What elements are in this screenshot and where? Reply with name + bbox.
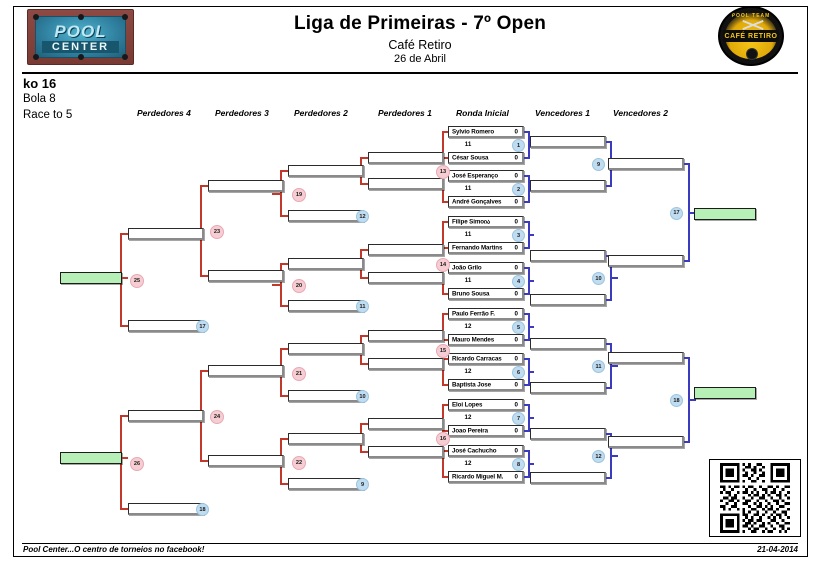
connector-line [606,387,610,389]
race-to-label: 11 [448,141,488,148]
connector-line [444,313,448,315]
perdedores-2-slot[interactable] [288,165,364,177]
ronda-inicial-slot-top[interactable]: José Esperanço0 [448,170,524,182]
connector-line [282,483,288,485]
connector-line [362,249,368,251]
race-label: Race to 5 [23,109,72,121]
player-score: 0 [515,381,518,388]
column-header-perdedores-3: Perdedores 3 [215,108,269,118]
match-number-badge[interactable]: 23 [210,225,224,239]
vencedores-2-slot[interactable] [608,436,684,448]
perdedores-1-slot[interactable] [368,330,444,342]
ronda-inicial-slot-top[interactable]: Sylvio Romero0 [448,126,524,138]
vencedores-2-slot[interactable] [608,158,684,170]
perdedores-2-slot[interactable] [288,258,364,270]
connector-line [528,463,534,465]
match-number-badge[interactable]: 17 [196,320,209,333]
connector-line [444,450,448,452]
ronda-inicial-slot-bottom[interactable]: Baptista Jose0 [448,379,524,391]
perdedores-2-slot[interactable] [288,478,364,490]
ronda-inicial-slot-bottom[interactable]: Joao Pereira0 [448,425,524,437]
connector-line [362,183,368,185]
player-name: Paulo Ferrão F. [452,310,495,317]
vencedores-1-slot[interactable] [530,338,606,350]
player-name: Ricardo Miguel M. [452,473,503,480]
match-number-badge[interactable]: 18 [196,503,209,516]
match-number-badge[interactable]: 26 [130,457,144,471]
cafe-retiro-logo: POOL TEAM CAFÉ RETIRO [718,6,784,66]
vencedores-2-slot[interactable] [608,255,684,267]
perdedores-3-slot[interactable] [208,455,284,467]
player-score: 0 [515,128,518,135]
match-number-badge[interactable]: 12 [592,450,605,463]
perdedores-1-slot[interactable] [368,152,444,164]
vencedores-2-slot[interactable] [608,352,684,364]
match-number-badge[interactable]: 5 [512,321,525,334]
connector-line [524,157,528,159]
connector-line [528,280,534,282]
connector-line [362,335,368,337]
column-header-vencedores-1: Vencedores 1 [535,108,590,118]
connector-line [610,455,618,457]
connector-line [606,299,610,301]
connector-line [524,476,528,478]
connector-line [362,157,368,159]
player-score: 0 [515,310,518,317]
connector-line [280,170,282,217]
ronda-inicial-slot-top[interactable]: Filipe Simoია0 [448,216,524,228]
match-number-badge[interactable]: 8 [512,458,525,471]
connector-line [272,193,280,195]
ronda-inicial-slot-top[interactable]: José Cachucho0 [448,445,524,457]
footer-note: Pool Center...O centro de torneios no fa… [23,545,204,554]
ronda-inicial-slot-top[interactable]: Paulo Ferrão F.0 [448,308,524,320]
perdedores-1-slot[interactable] [368,418,444,430]
player-name: Baptista Jose [452,381,491,388]
perdedores-4-slot[interactable] [128,503,204,515]
match-number-badge[interactable]: 20 [292,279,306,293]
pocket-icon [122,14,128,20]
connector-line [202,185,208,187]
venue-subtitle: Café Retiro [230,38,610,52]
pool-center-logo-line2: CENTER [42,41,119,53]
vencedores-1-slot[interactable] [530,472,606,484]
match-number-badge[interactable]: 14 [436,258,450,272]
vencedores-1-slot[interactable] [530,180,606,192]
player-name: César Sousa [452,154,488,161]
connector-line [122,415,128,417]
connector-line [122,457,128,459]
cafe-retiro-logo-band: CAFÉ RETIRO [723,30,779,42]
race-to-label: 12 [448,323,488,330]
match-number-badge[interactable]: 1 [512,139,525,152]
perdedores-2-slot[interactable] [288,343,364,355]
player-name: Eloi Lopes [452,401,482,408]
match-number-badge[interactable]: 10 [356,390,369,403]
page-title: Liga de Primeiras - 7º Open [230,13,610,35]
player-score: 0 [515,198,518,205]
connector-line [362,363,368,365]
match-number-badge[interactable]: 15 [436,344,450,358]
match-number-badge[interactable]: 13 [436,165,450,179]
player-name: Sylvio Romero [452,128,494,135]
final-winner-slot[interactable] [694,208,756,220]
column-header-vencedores-2: Vencedores 2 [613,108,668,118]
match-number-badge[interactable]: 22 [292,456,306,470]
player-score: 0 [515,473,518,480]
player-name: Filipe Simoია [452,218,490,225]
perdedores-2-slot[interactable] [288,300,364,312]
footer-divider [22,543,798,544]
player-score: 0 [515,447,518,454]
pocket-icon [122,54,128,60]
connector-line [444,247,448,249]
player-name: Bruno Sousa [452,290,489,297]
vencedores-1-slot[interactable] [530,136,606,148]
final-winner-slot[interactable] [694,387,756,399]
pool-center-logo-line1: POOL [28,22,133,42]
player-score: 0 [515,401,518,408]
connector-line [362,277,368,279]
perdedores-4-slot[interactable] [128,320,204,332]
race-to-label: 11 [448,185,488,192]
connector-line [444,201,448,203]
player-score: 0 [515,336,518,343]
eight-ball-icon [746,48,758,60]
connector-line [282,348,288,350]
perdedores-1-slot[interactable] [368,244,444,256]
ronda-inicial-slot-bottom[interactable]: Fernando Martins0 [448,242,524,254]
connector-line [282,395,288,397]
match-number-badge[interactable]: 9 [592,158,605,171]
losers-final-slot[interactable] [60,272,122,284]
match-number-badge[interactable]: 12 [356,210,369,223]
perdedores-4-slot[interactable] [128,410,204,422]
player-name: José Esperanço [452,172,498,179]
match-number-badge[interactable]: 3 [512,229,525,242]
ronda-inicial-slot-top[interactable]: Ricardo Carracas0 [448,353,524,365]
ronda-inicial-slot-top[interactable]: Eloi Lopes0 [448,399,524,411]
player-name: Joao Pereira [452,427,488,434]
perdedores-2-slot[interactable] [288,390,364,402]
date-subtitle: 26 de Abril [230,53,610,65]
pocket-icon [78,14,84,20]
connector-line [444,358,448,360]
ronda-inicial-slot-bottom[interactable]: André Gonçalves0 [448,196,524,208]
connector-line [122,325,128,327]
player-name: André Gonçalves [452,198,501,205]
ronda-inicial-slot-bottom[interactable]: Ricardo Miguel M.0 [448,471,524,483]
player-score: 0 [515,244,518,251]
tournament-bracket-page: POOL CENTER Liga de Primeiras - 7º Open … [0,0,821,570]
connector-line [610,277,618,279]
player-score: 0 [515,218,518,225]
connector-line [444,157,448,159]
connector-line [524,430,528,432]
perdedores-3-slot[interactable] [208,270,284,282]
connector-line [362,423,368,425]
connector-line [524,339,528,341]
player-name: Mauro Mendes [452,336,494,343]
vencedores-1-slot[interactable] [530,382,606,394]
connector-line [684,441,688,443]
match-number-badge[interactable]: 17 [670,207,683,220]
match-number-badge[interactable]: 11 [592,360,605,373]
vencedores-1-slot[interactable] [530,250,606,262]
player-score: 0 [515,172,518,179]
match-number-badge[interactable]: 21 [292,367,306,381]
connector-line [282,438,288,440]
race-to-label: 11 [448,277,488,284]
ronda-inicial-slot-top[interactable]: João Grilo0 [448,262,524,274]
connector-line [444,404,448,406]
connector-line [122,508,128,510]
player-name: José Cachucho [452,447,496,454]
ronda-inicial-slot-bottom[interactable]: Bruno Sousa0 [448,288,524,300]
qr-code-box [709,459,801,537]
connector-line [524,247,528,249]
connector-line [444,293,448,295]
pool-center-logo: POOL CENTER [27,9,134,65]
connector-line [362,451,368,453]
perdedores-3-slot[interactable] [208,180,284,192]
perdedores-1-slot[interactable] [368,446,444,458]
match-number-badge[interactable]: 25 [130,274,144,288]
connector-line [528,234,534,236]
player-name: Ricardo Carracas [452,355,502,362]
column-header-perdedores-2: Perdedores 2 [294,108,348,118]
connector-line [272,284,280,286]
qr-code-icon [719,463,791,533]
connector-line [688,399,696,401]
pocket-icon [78,54,84,60]
header-divider [22,72,798,74]
match-number-badge[interactable]: 16 [436,432,450,446]
match-number-badge[interactable]: 24 [210,410,224,424]
connector-line [282,305,288,307]
connector-line [282,170,288,172]
perdedores-4-slot[interactable] [128,228,204,240]
connector-line [444,131,448,133]
pocket-icon [33,54,39,60]
match-number-badge[interactable]: 9 [356,478,369,491]
match-number-badge[interactable]: 19 [292,188,306,202]
stage-label: ko 16 [23,76,56,91]
connector-line [610,365,618,367]
match-number-badge[interactable]: 6 [512,366,525,379]
connector-line [444,476,448,478]
ronda-inicial-slot-bottom[interactable]: César Sousa0 [448,152,524,164]
player-name: João Grilo [452,264,482,271]
player-score: 0 [515,427,518,434]
perdedores-1-slot[interactable] [368,272,444,284]
column-header-perdedores-4: Perdedores 4 [137,108,191,118]
vencedores-1-slot[interactable] [530,428,606,440]
losers-final-slot[interactable] [60,452,122,464]
race-to-label: 11 [448,231,488,238]
player-score: 0 [515,154,518,161]
match-number-badge[interactable]: 2 [512,183,525,196]
player-score: 0 [515,355,518,362]
match-number-badge[interactable]: 4 [512,275,525,288]
connector-line [606,477,610,479]
player-score: 0 [515,290,518,297]
connector-line [528,417,534,419]
connector-line [528,371,534,373]
connector-line [122,233,128,235]
connector-line [444,339,448,341]
race-to-label: 12 [448,460,488,467]
player-name: Fernando Martins [452,244,502,251]
connector-line [444,384,448,386]
connector-line [282,215,288,217]
connector-line [444,221,448,223]
match-number-badge[interactable]: 10 [592,272,605,285]
connector-line [202,460,208,462]
connector-line [524,293,528,295]
column-header-ronda-inicial: Ronda Inicial [456,108,509,118]
vencedores-1-slot[interactable] [530,294,606,306]
race-to-label: 12 [448,414,488,421]
connector-line [524,201,528,203]
match-number-badge[interactable]: 18 [670,394,683,407]
pocket-icon [33,14,39,20]
player-score: 0 [515,264,518,271]
perdedores-1-slot[interactable] [368,178,444,190]
perdedores-2-slot[interactable] [288,210,364,222]
connector-line [528,326,534,328]
match-number-badge[interactable]: 11 [356,300,369,313]
connector-line [524,384,528,386]
ronda-inicial-slot-bottom[interactable]: Mauro Mendes0 [448,334,524,346]
perdedores-2-slot[interactable] [288,433,364,445]
connector-line [684,260,688,262]
perdedores-1-slot[interactable] [368,358,444,370]
perdedores-3-slot[interactable] [208,365,284,377]
game-label: Bola 8 [23,93,56,105]
connector-line [606,185,610,187]
connector-line [202,370,208,372]
connector-line [122,277,128,279]
match-number-badge[interactable]: 7 [512,412,525,425]
connector-line [282,263,288,265]
race-to-label: 12 [448,368,488,375]
footer-date: 21-04-2014 [757,545,798,554]
connector-line [202,275,208,277]
column-header-perdedores-1: Perdedores 1 [378,108,432,118]
cafe-retiro-logo-top: POOL TEAM [720,13,782,19]
